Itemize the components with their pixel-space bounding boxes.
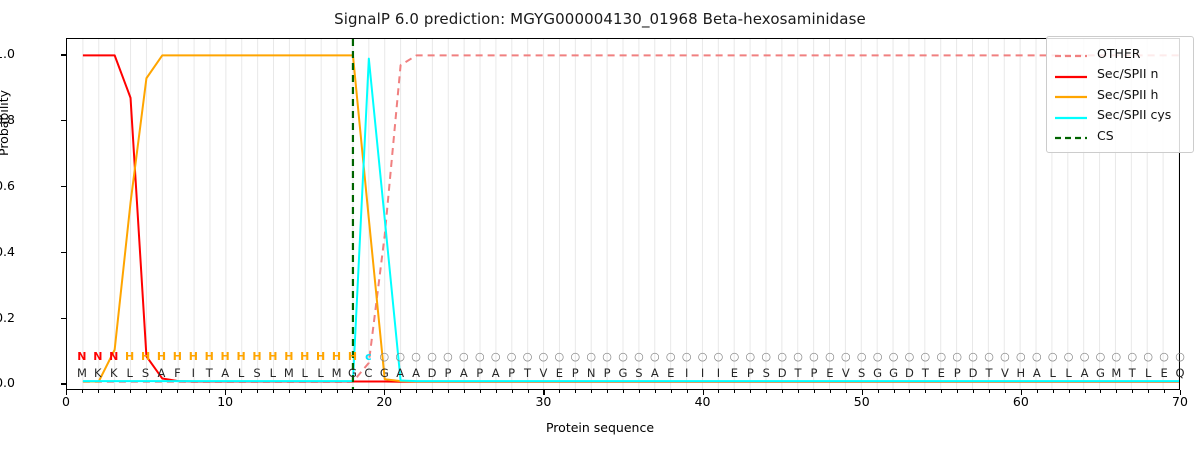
sequence-residue: P (604, 366, 611, 380)
legend-item[interactable]: Sec/SPII n (1054, 64, 1185, 85)
sequence-residue: T (986, 366, 993, 380)
sequence-residue: T (524, 366, 531, 380)
region-marker-H: H (141, 350, 150, 363)
x-tick-minor-mark (1132, 390, 1133, 393)
sequence-residue: D (428, 366, 437, 380)
sequence-residue: Q (1175, 366, 1184, 380)
sequence-residue: F (174, 366, 181, 380)
sequence-residue: A (460, 366, 468, 380)
region-marker-O: ○ (523, 350, 533, 363)
region-marker-O: ○ (905, 350, 915, 363)
sequence-residue: P (476, 366, 483, 380)
region-marker-O: ○ (395, 350, 405, 363)
x-tick-minor-mark (989, 390, 990, 393)
legend-item[interactable]: CS (1054, 125, 1185, 146)
sequence-residue: E (938, 366, 945, 380)
page-title: SignalP 6.0 prediction: MGYG000004130_01… (0, 10, 1200, 28)
y-tick-label: 0.6 (0, 178, 15, 193)
region-marker-O: ○ (1048, 350, 1058, 363)
sequence-residue: S (142, 366, 149, 380)
x-tick-minor-mark (209, 390, 210, 393)
y-tick-mark (61, 383, 66, 384)
region-marker-O: ○ (586, 350, 596, 363)
x-tick-minor-mark (289, 390, 290, 393)
legend-swatch-icon (1054, 47, 1088, 59)
x-tick-minor-mark (352, 390, 353, 393)
sequence-residue: G (348, 366, 357, 380)
x-tick-minor-mark (305, 390, 306, 393)
sequence-residue: E (556, 366, 563, 380)
cleavage-site-line (67, 39, 1179, 389)
x-tick-label: 20 (376, 394, 392, 409)
region-marker-O: ○ (1143, 350, 1153, 363)
sequence-residue: V (1001, 366, 1009, 380)
region-marker-O: ○ (857, 350, 867, 363)
region-marker-O: ○ (1016, 350, 1026, 363)
x-tick-minor-mark (321, 390, 322, 393)
legend-label: Sec/SPII n (1097, 66, 1158, 81)
region-marker-N: N (93, 350, 102, 363)
region-marker-O: ○ (968, 350, 978, 363)
region-marker-O: ○ (634, 350, 644, 363)
region-marker-O: ○ (618, 350, 628, 363)
sequence-residue: S (635, 366, 642, 380)
region-marker-H: H (173, 350, 182, 363)
region-marker-O: ○ (459, 350, 469, 363)
region-marker-H: H (125, 350, 134, 363)
region-marker-O: ○ (555, 350, 565, 363)
x-tick-minor-mark (273, 390, 274, 393)
sequence-residue: L (317, 366, 323, 380)
sequence-residue: L (270, 366, 276, 380)
x-tick-minor-mark (368, 390, 369, 393)
region-annotation-row: NNNHHHHHHHHHHHHHHHc○○○○○○○○○○○○○○○○○○○○○… (66, 350, 1180, 366)
region-marker-O: ○ (682, 350, 692, 363)
x-tick-minor-mark (1053, 390, 1054, 393)
region-marker-O: ○ (873, 350, 883, 363)
sequence-residue: P (444, 366, 451, 380)
sequence-residue: S (763, 366, 770, 380)
x-tick-minor-mark (607, 390, 608, 393)
x-tick-minor-mark (798, 390, 799, 393)
x-tick-minor-mark (337, 390, 338, 393)
sequence-residue: G (380, 366, 389, 380)
x-tick-label: 0 (62, 394, 70, 409)
y-tick-label: 0.4 (0, 244, 15, 259)
sequence-residue: P (572, 366, 579, 380)
y-tick-label: 1.0 (0, 46, 15, 61)
y-tick-label: 0.2 (0, 310, 15, 325)
region-marker-O: ○ (793, 350, 803, 363)
region-marker-N: N (109, 350, 118, 363)
x-tick-minor-mark (591, 390, 592, 393)
region-marker-O: ○ (411, 350, 421, 363)
region-marker-O: ○ (379, 350, 389, 363)
x-tick-minor-mark (480, 390, 481, 393)
sequence-residue: P (811, 366, 818, 380)
legend-swatch-icon (1054, 88, 1088, 100)
sequence-residue: S (858, 366, 865, 380)
x-tick-minor-mark (814, 390, 815, 393)
region-marker-H: H (268, 350, 277, 363)
x-tick-minor-mark (1085, 390, 1086, 393)
x-tick-minor-mark (623, 390, 624, 393)
x-tick-minor-mark (1164, 390, 1165, 393)
x-tick-minor-mark (973, 390, 974, 393)
region-marker-H: H (221, 350, 230, 363)
sequence-residue: D (778, 366, 787, 380)
region-marker-O: ○ (698, 350, 708, 363)
x-tick-minor-mark (687, 390, 688, 393)
region-marker-O: ○ (507, 350, 517, 363)
region-marker-O: ○ (746, 350, 756, 363)
legend-label: Sec/SPII cys (1097, 107, 1171, 122)
region-marker-H: H (284, 350, 293, 363)
x-tick-label: 50 (854, 394, 870, 409)
protein-sequence-row: MKKLSAFITALSLMLLMGCGAADPAPAPTVEPNPGSAEII… (66, 366, 1180, 382)
sequence-residue: M (1111, 366, 1121, 380)
x-tick-minor-mark (98, 390, 99, 393)
region-marker-H: H (205, 350, 214, 363)
sequence-residue: A (1081, 366, 1089, 380)
region-marker-O: ○ (921, 350, 931, 363)
x-tick-minor-mark (925, 390, 926, 393)
x-tick-minor-mark (161, 390, 162, 393)
sequence-residue: M (77, 366, 87, 380)
legend-swatch-icon (1054, 109, 1088, 121)
sequence-residue: G (873, 366, 882, 380)
region-marker-O: ○ (443, 350, 453, 363)
x-tick-minor-mark (941, 390, 942, 393)
x-tick-minor-mark (416, 390, 417, 393)
region-marker-O: ○ (602, 350, 612, 363)
x-tick-minor-mark (1005, 390, 1006, 393)
sequence-residue: P (954, 366, 961, 380)
region-marker-O: ○ (475, 350, 485, 363)
sequence-residue: K (94, 366, 102, 380)
y-tick-mark (61, 318, 66, 319)
x-tick-minor-mark (1116, 390, 1117, 393)
legend-item[interactable]: Sec/SPII h (1054, 84, 1185, 105)
sequence-residue: N (587, 366, 596, 380)
region-marker-O: ○ (1096, 350, 1106, 363)
legend-label: OTHER (1097, 46, 1140, 61)
region-marker-H: H (348, 350, 357, 363)
y-tick-mark (61, 54, 66, 55)
x-tick-minor-mark (496, 390, 497, 393)
x-tick-minor-mark (909, 390, 910, 393)
plot-area (66, 38, 1180, 390)
region-marker-O: ○ (841, 350, 851, 363)
region-marker-O: ○ (1064, 350, 1074, 363)
x-tick-minor-mark (400, 390, 401, 393)
x-tick-minor-mark (193, 390, 194, 393)
sequence-residue: A (492, 366, 500, 380)
x-tick-minor-mark (1148, 390, 1149, 393)
x-tick-minor-mark (575, 390, 576, 393)
region-marker-O: ○ (1112, 350, 1122, 363)
sequence-residue: G (1096, 366, 1105, 380)
legend-swatch-icon (1054, 129, 1088, 141)
sequence-residue: A (221, 366, 229, 380)
x-tick-minor-mark (512, 390, 513, 393)
x-tick-minor-mark (782, 390, 783, 393)
region-marker-O: ○ (666, 350, 676, 363)
sequence-residue: T (1129, 366, 1136, 380)
region-marker-O: ○ (1080, 350, 1090, 363)
x-tick-minor-mark (177, 390, 178, 393)
x-tick-minor-mark (750, 390, 751, 393)
region-marker-O: ○ (1000, 350, 1010, 363)
sequence-residue: G (619, 366, 628, 380)
region-marker-H: H (300, 350, 309, 363)
x-tick-minor-mark (894, 390, 895, 393)
region-marker-O: ○ (570, 350, 580, 363)
y-tick-label: 0.0 (0, 375, 15, 390)
sequence-residue: E (731, 366, 738, 380)
x-tick-minor-mark (830, 390, 831, 393)
sequence-residue: L (1065, 366, 1071, 380)
region-marker-O: ○ (984, 350, 994, 363)
sequence-residue: L (126, 366, 132, 380)
sequence-residue: M (332, 366, 342, 380)
region-marker-O: ○ (1159, 350, 1169, 363)
sequence-residue: A (158, 366, 166, 380)
x-tick-minor-mark (766, 390, 767, 393)
sequence-residue: I (701, 366, 704, 380)
region-marker-O: ○ (936, 350, 946, 363)
region-marker-O: ○ (1127, 350, 1137, 363)
sequence-residue: T (922, 366, 929, 380)
region-marker-O: ○ (539, 350, 549, 363)
region-marker-O: ○ (825, 350, 835, 363)
x-tick-minor-mark (257, 390, 258, 393)
x-tick-minor-mark (82, 390, 83, 393)
x-tick-minor-mark (464, 390, 465, 393)
x-tick-minor-mark (528, 390, 529, 393)
x-tick-label: 60 (1013, 394, 1029, 409)
sequence-residue: M (284, 366, 294, 380)
y-tick-label: 0.8 (0, 112, 15, 127)
region-marker-H: H (316, 350, 325, 363)
sequence-residue: L (1049, 366, 1055, 380)
legend: OTHERSec/SPII nSec/SPII hSec/SPII cysCS (1046, 36, 1194, 153)
sequence-residue: A (1033, 366, 1041, 380)
sequence-residue: C (364, 366, 372, 380)
sequence-residue: K (110, 366, 118, 380)
x-tick-minor-mark (846, 390, 847, 393)
x-tick-minor-mark (1037, 390, 1038, 393)
y-tick-mark (61, 120, 66, 121)
x-tick-minor-mark (448, 390, 449, 393)
legend-label: Sec/SPII h (1097, 87, 1158, 102)
region-marker-H: H (157, 350, 166, 363)
legend-item[interactable]: Sec/SPII cys (1054, 105, 1185, 126)
x-tick-minor-mark (718, 390, 719, 393)
x-tick-minor-mark (734, 390, 735, 393)
region-marker-O: ○ (1032, 350, 1042, 363)
x-tick-minor-mark (241, 390, 242, 393)
region-marker-H: H (332, 350, 341, 363)
x-tick-label: 70 (1172, 394, 1188, 409)
sequence-residue: I (192, 366, 195, 380)
sequence-residue: V (842, 366, 850, 380)
sequence-residue: S (253, 366, 260, 380)
x-tick-minor-mark (146, 390, 147, 393)
x-tick-minor-mark (957, 390, 958, 393)
sequence-residue: I (717, 366, 720, 380)
legend-swatch-icon (1054, 68, 1088, 80)
region-marker-O: ○ (777, 350, 787, 363)
x-tick-minor-mark (130, 390, 131, 393)
x-tick-minor-mark (639, 390, 640, 393)
x-tick-minor-mark (114, 390, 115, 393)
x-tick-minor-mark (1069, 390, 1070, 393)
region-marker-H: H (236, 350, 245, 363)
x-tick-label: 10 (217, 394, 233, 409)
sequence-residue: T (206, 366, 213, 380)
sequence-residue: E (1160, 366, 1167, 380)
region-marker-O: ○ (889, 350, 899, 363)
x-tick-label: 30 (535, 394, 551, 409)
sequence-residue: V (539, 366, 547, 380)
sequence-residue: L (238, 366, 244, 380)
region-marker-O: ○ (427, 350, 437, 363)
region-marker-H: H (252, 350, 261, 363)
sequence-residue: E (826, 366, 833, 380)
sequence-residue: P (508, 366, 515, 380)
region-marker-O: ○ (714, 350, 724, 363)
region-marker-O: ○ (1175, 350, 1185, 363)
sequence-residue: A (412, 366, 420, 380)
x-tick-minor-mark (878, 390, 879, 393)
sequence-residue: A (396, 366, 404, 380)
sequence-residue: H (1017, 366, 1026, 380)
sequence-residue: L (1145, 366, 1151, 380)
legend-label: CS (1097, 128, 1114, 143)
region-marker-O: ○ (730, 350, 740, 363)
x-tick-minor-mark (671, 390, 672, 393)
x-tick-label: 40 (695, 394, 711, 409)
region-marker-O: ○ (761, 350, 771, 363)
sequence-residue: E (667, 366, 674, 380)
sequence-residue: I (685, 366, 688, 380)
sequence-residue: L (301, 366, 307, 380)
sequence-residue: P (747, 366, 754, 380)
x-tick-minor-mark (432, 390, 433, 393)
sequence-residue: T (795, 366, 802, 380)
region-marker-H: H (189, 350, 198, 363)
sequence-residue: G (889, 366, 898, 380)
legend-item[interactable]: OTHER (1054, 43, 1185, 64)
x-tick-minor-mark (559, 390, 560, 393)
region-marker-N: N (77, 350, 86, 363)
x-tick-minor-mark (1100, 390, 1101, 393)
sequence-residue: D (905, 366, 914, 380)
region-marker-O: ○ (809, 350, 819, 363)
y-tick-mark (61, 186, 66, 187)
y-tick-mark (61, 252, 66, 253)
sequence-residue: D (969, 366, 978, 380)
region-marker-O: ○ (952, 350, 962, 363)
x-axis-label: Protein sequence (0, 420, 1200, 435)
region-marker-O: ○ (491, 350, 501, 363)
sequence-residue: A (651, 366, 659, 380)
x-tick-minor-mark (655, 390, 656, 393)
region-marker-c: c (365, 350, 372, 363)
region-marker-O: ○ (650, 350, 660, 363)
